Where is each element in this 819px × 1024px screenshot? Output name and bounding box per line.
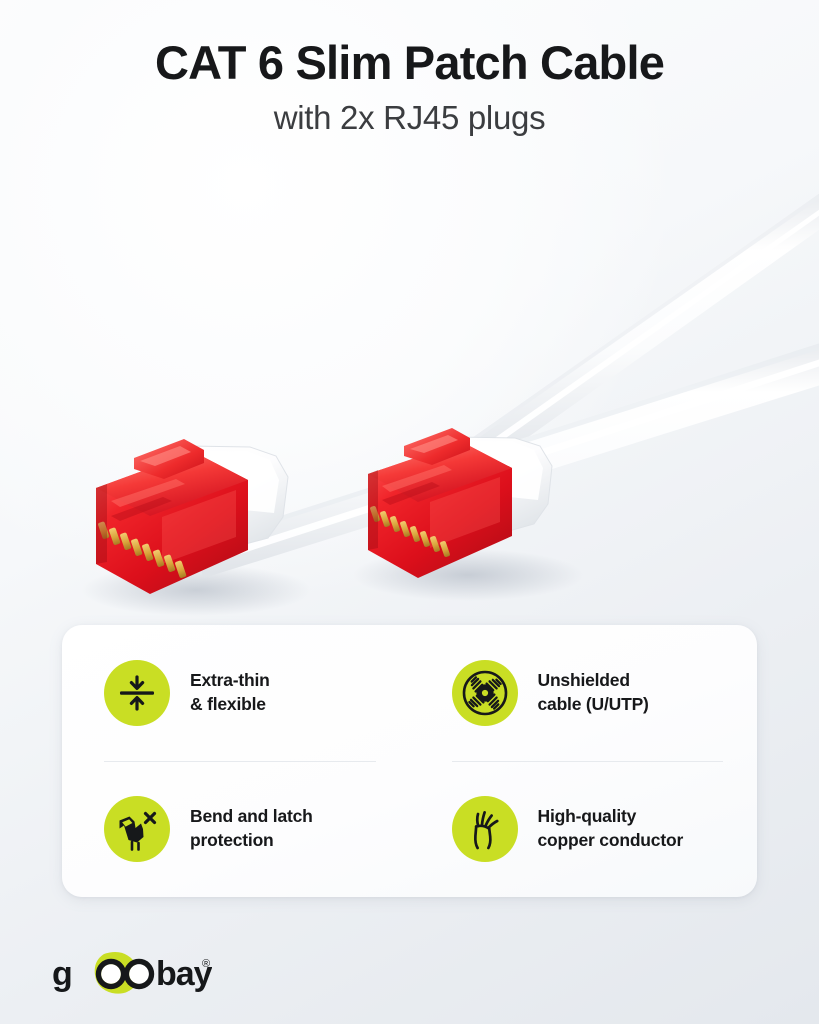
copper-conductor-icon <box>452 796 518 862</box>
page-title: CAT 6 Slim Patch Cable <box>0 0 819 89</box>
page-subtitle: with 2x RJ45 plugs <box>0 89 819 136</box>
feature-extra-thin-flexible: Extra-thin & flexible <box>62 625 410 761</box>
feature-label: Bend and latch protection <box>190 805 313 852</box>
feature-bend-latch-protection: Bend and latch protection <box>62 761 410 897</box>
product-photo <box>0 150 819 640</box>
unshielded-cable-icon <box>452 660 518 726</box>
svg-text:g: g <box>52 955 72 993</box>
feature-label: Unshielded cable (U/UTP) <box>538 669 649 716</box>
bend-latch-protection-icon <box>104 796 170 862</box>
feature-label: High-quality copper conductor <box>538 805 684 852</box>
product-infographic: CAT 6 Slim Patch Cable with 2x RJ45 plug… <box>0 0 819 1024</box>
registered-mark: ® <box>202 958 210 970</box>
features-card: Extra-thin & flexible <box>62 625 757 897</box>
brand-logo: g bay ® <box>52 947 212 997</box>
header: CAT 6 Slim Patch Cable with 2x RJ45 plug… <box>0 0 819 136</box>
feature-copper-conductor: High-quality copper conductor <box>410 761 758 897</box>
feature-label: Extra-thin & flexible <box>190 669 270 716</box>
extra-thin-flexible-icon <box>104 660 170 726</box>
feature-unshielded-cable: Unshielded cable (U/UTP) <box>410 625 758 761</box>
